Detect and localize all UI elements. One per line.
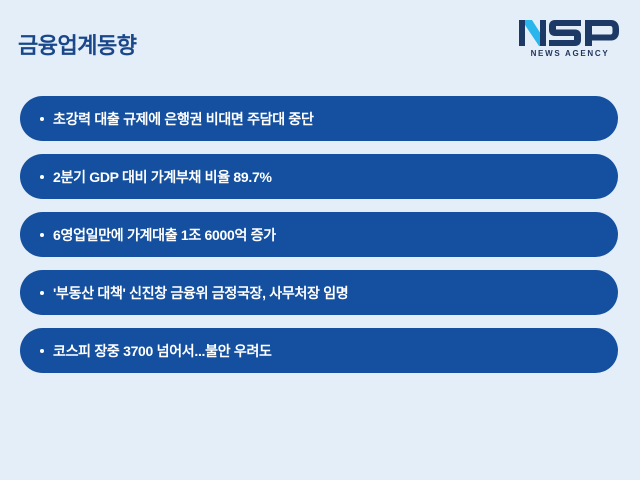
news-summary-slide: 금융업계동향 NEWS AGENCY 초강력 대출 규제에 은행권 비대면 주담…	[0, 0, 640, 480]
bullet-icon	[40, 117, 44, 121]
headline-text: 2분기 GDP 대비 가계부채 비율 89.7%	[53, 168, 596, 186]
bullet-icon	[40, 233, 44, 237]
headline-item-1[interactable]: 초강력 대출 규제에 은행권 비대면 주담대 중단	[20, 96, 618, 141]
nsp-logo: NEWS AGENCY	[514, 18, 622, 66]
headline-item-4[interactable]: '부동산 대책' 신진창 금융위 금정국장, 사무처장 임명	[20, 270, 618, 315]
headline-item-5[interactable]: 코스피 장중 3700 넘어서...불안 우려도	[20, 328, 618, 373]
bullet-icon	[40, 349, 44, 353]
page-title: 금융업계동향	[18, 28, 136, 60]
bullet-icon	[40, 175, 44, 179]
logo-tagline: NEWS AGENCY	[518, 49, 622, 59]
headline-text: 코스피 장중 3700 넘어서...불안 우려도	[53, 342, 596, 360]
bullet-icon	[40, 291, 44, 295]
headline-item-2[interactable]: 2분기 GDP 대비 가계부채 비율 89.7%	[20, 154, 618, 199]
nsp-wordmark-icon	[518, 18, 622, 48]
headline-item-3[interactable]: 6영업일만에 가계대출 1조 6000억 증가	[20, 212, 618, 257]
slide-header: 금융업계동향 NEWS AGENCY	[0, 0, 640, 88]
headline-list: 초강력 대출 규제에 은행권 비대면 주담대 중단 2분기 GDP 대비 가계부…	[20, 96, 618, 373]
headline-text: 초강력 대출 규제에 은행권 비대면 주담대 중단	[53, 110, 596, 128]
headline-text: '부동산 대책' 신진창 금융위 금정국장, 사무처장 임명	[53, 284, 596, 302]
headline-text: 6영업일만에 가계대출 1조 6000억 증가	[53, 226, 596, 244]
